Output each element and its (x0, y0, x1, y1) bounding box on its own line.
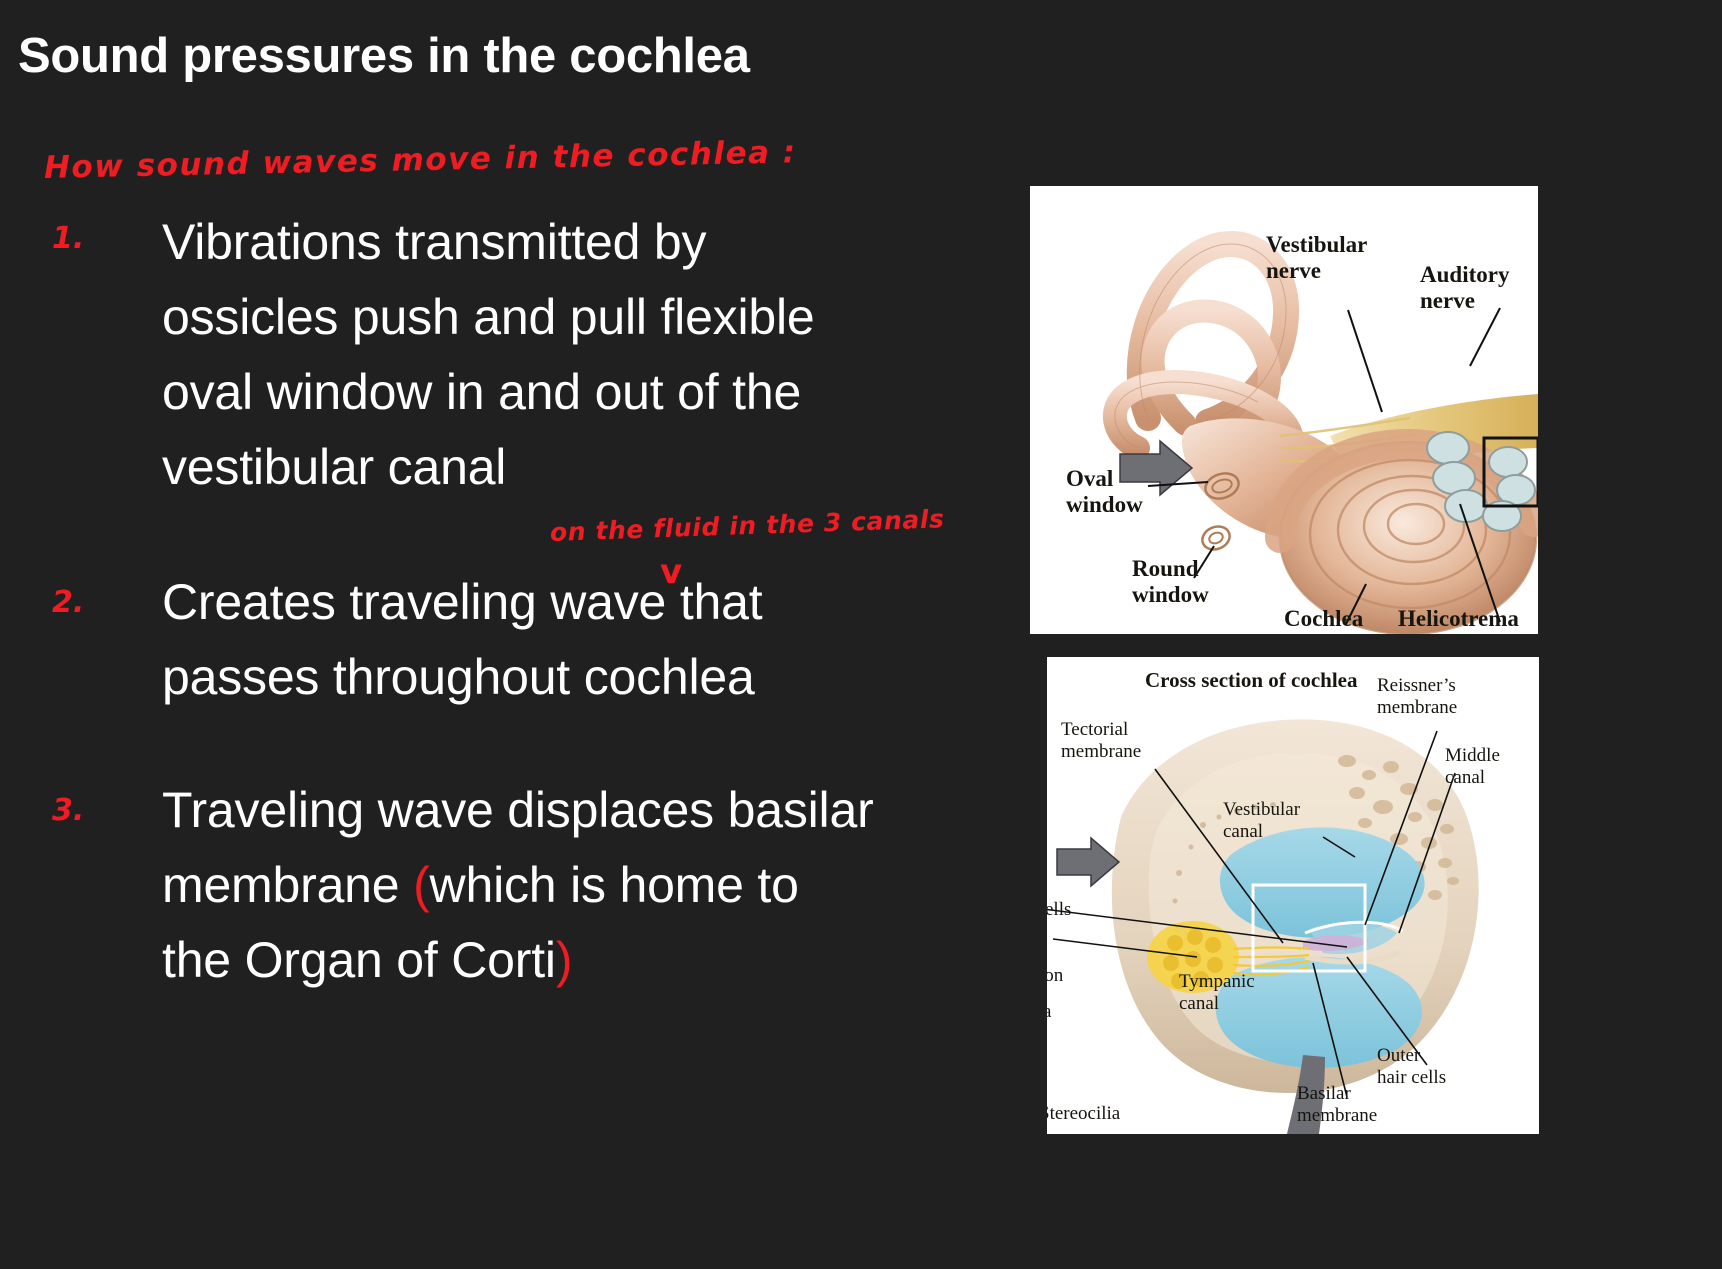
svg-text:hair cells: hair cells (1377, 1067, 1446, 1088)
figure-label-vestibular-nerve: Vestibular (1266, 232, 1367, 257)
figure-label-auditory-nerve: Auditory (1420, 262, 1510, 287)
bullet-number: 2. (52, 585, 84, 620)
figure-label-helicotrema: Helicotrema (1398, 606, 1519, 631)
svg-text:ion: ion (1047, 965, 1064, 986)
figure-label-stereocilia: Stereocilia (1047, 1103, 1121, 1124)
svg-text:membrane: membrane (1297, 1105, 1377, 1126)
inner-ear-illustration: Vestibular nerve Auditory nerve Oval win… (1030, 186, 1538, 634)
bullet-line-text: the Organ of Corti (162, 932, 556, 988)
red-close-paren: ) (556, 932, 572, 988)
svg-text:window: window (1132, 582, 1209, 607)
figure-label-oval-window: Oval (1066, 466, 1113, 491)
handwritten-heading-annotation: How sound waves move in the cochlea : (44, 134, 797, 186)
list-item: 1. Vibrations transmitted by ossicles pu… (52, 205, 952, 505)
figure-label-basilar-membrane: Basilar (1297, 1083, 1351, 1104)
svg-text:canal: canal (1179, 993, 1219, 1014)
bullet-line: Creates traveling wave that (162, 565, 952, 640)
bullet-text: Creates traveling wave that passes throu… (162, 565, 952, 715)
figure-label-tympanic-canal: Tympanic (1179, 971, 1255, 992)
figure-label-cochlea: Cochlea (1284, 606, 1364, 631)
figure-label-middle-canal: Middle (1445, 745, 1500, 766)
svg-text:nerve: nerve (1266, 258, 1321, 283)
bullet-line: the Organ of Corti) (162, 923, 952, 998)
bullet-text: Traveling wave displaces basilar membran… (162, 773, 952, 998)
bullet-line: vestibular canal (162, 430, 952, 505)
red-open-paren: ( (413, 857, 429, 913)
cochlea-cross-section-figure: Cross section of cochlea Reissner’s memb… (1047, 657, 1539, 1134)
bullet-line-pre: membrane (162, 857, 413, 913)
bullet-line: Vibrations transmitted by (162, 205, 952, 280)
svg-text:window: window (1066, 492, 1143, 517)
inner-ear-figure: Vestibular nerve Auditory nerve Oval win… (1030, 186, 1538, 634)
bullet-line: ossicles push and pull flexible (162, 280, 952, 355)
list-item: 2. Creates traveling wave that passes th… (52, 565, 952, 715)
slide-root: Sound pressures in the cochlea How sound… (0, 0, 1722, 1269)
figure-label-reissners-membrane: Reissner’s (1377, 675, 1456, 696)
bullet-line-post: which is home to (430, 857, 799, 913)
svg-text:canal: canal (1223, 821, 1263, 842)
svg-text:membrane: membrane (1061, 741, 1141, 762)
bullet-list: 1. Vibrations transmitted by ossicles pu… (52, 205, 952, 1004)
bullet-text: Vibrations transmitted by ossicles push … (162, 205, 952, 505)
figure-label-clipped-cells: ells (1047, 899, 1071, 920)
bullet-line: membrane (which is home to (162, 848, 952, 923)
figure-label-round-window: Round (1132, 556, 1199, 581)
bullet-line: oval window in and out of the (162, 355, 952, 430)
figure-label-tectorial-membrane: Tectorial (1061, 719, 1128, 740)
svg-text:membrane: membrane (1377, 697, 1457, 718)
list-item: 3. Traveling wave displaces basilar memb… (52, 773, 952, 998)
bullet-number: 1. (52, 221, 84, 256)
bullet-line: Traveling wave displaces basilar (162, 773, 952, 848)
svg-text:nerve: nerve (1420, 288, 1475, 313)
figure-title-cross-section: Cross section of cochlea (1145, 668, 1358, 692)
bullet-number: 3. (52, 793, 84, 828)
figure-label-vestibular-canal: Vestibular (1223, 799, 1301, 820)
caret-insert-mark: v (660, 555, 682, 589)
svg-text:a: a (1047, 1001, 1052, 1022)
svg-text:canal: canal (1445, 767, 1485, 788)
figure-label-outer-hair-cells: Outer (1377, 1045, 1421, 1066)
bullet-line: passes throughout cochlea (162, 640, 952, 715)
cochlea-cross-section-illustration: Cross section of cochlea Reissner’s memb… (1047, 657, 1539, 1134)
page-title: Sound pressures in the cochlea (18, 28, 750, 84)
